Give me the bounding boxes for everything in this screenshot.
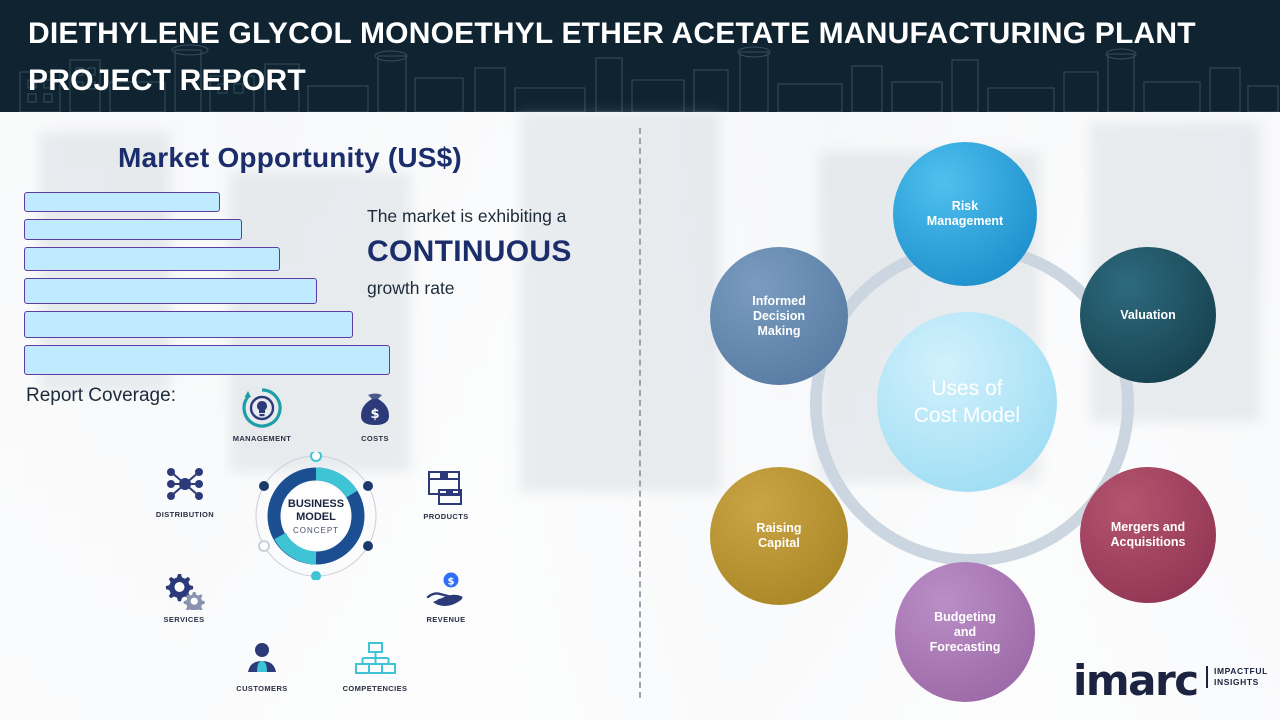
- bm-title-line1: BUSINESS: [288, 498, 344, 511]
- coverage-label-costs: COSTS: [327, 434, 423, 443]
- coverage-item-competencies: COMPETENCIES: [327, 636, 423, 693]
- business-model-diagram: BUSINESS MODEL CONCEPT: [252, 452, 380, 580]
- node-label-budgeting-2: and: [930, 625, 1001, 640]
- node-label-mergers-2: Acquisitions: [1110, 535, 1185, 550]
- logo-tagline-line2: INSIGHTS: [1214, 677, 1268, 688]
- bar-item: [24, 192, 220, 212]
- imarc-logo: imarc IMPACTFUL INSIGHTS: [1073, 660, 1263, 702]
- node-label-informed-1: Informed: [752, 294, 805, 309]
- hand-coin-revenue-icon: $: [398, 567, 494, 611]
- center-node-uses-of-cost-model[interactable]: Uses of Cost Model: [877, 312, 1057, 492]
- management-gear-bulb-icon: [214, 386, 310, 430]
- coverage-label-management: MANAGEMENT: [214, 434, 310, 443]
- money-bag-icon: $: [327, 386, 423, 430]
- left-panel: Market Opportunity (US$) The market is e…: [0, 112, 640, 720]
- page-header: Diethylene Glycol Monoethyl Ether Acetat…: [0, 0, 1280, 112]
- business-model-label: BUSINESS MODEL CONCEPT: [252, 452, 380, 580]
- node-label-informed-3: Making: [752, 324, 805, 339]
- node-risk-management[interactable]: Risk Management: [893, 142, 1037, 286]
- node-mergers-acquisitions[interactable]: Mergers and Acquisitions: [1080, 467, 1216, 603]
- coverage-item-costs: $ COSTS: [327, 386, 423, 443]
- bar-item: [24, 345, 390, 375]
- coverage-item-distribution: DISTRIBUTION: [137, 462, 233, 519]
- node-label-informed-2: Decision: [752, 309, 805, 324]
- person-customers-icon: [214, 636, 310, 680]
- coverage-item-management: MANAGEMENT: [214, 386, 310, 443]
- gears-services-icon: [136, 567, 232, 611]
- market-growth-text: The market is exhibiting a CONTINUOUS gr…: [367, 204, 637, 300]
- coverage-label-services: SERVICES: [136, 615, 232, 624]
- org-chart-competencies-icon: [327, 636, 423, 680]
- coverage-item-customers: CUSTOMERS: [214, 636, 310, 693]
- report-coverage-label: Report Coverage:: [26, 385, 176, 407]
- node-label-mergers-1: Mergers and: [1110, 520, 1185, 535]
- node-label-budgeting-3: Forecasting: [930, 640, 1001, 655]
- node-label-risk-1: Risk: [927, 199, 1003, 214]
- node-valuation[interactable]: Valuation: [1080, 247, 1216, 383]
- bar-item: [24, 311, 353, 338]
- bm-title-line2: MODEL: [296, 511, 336, 524]
- node-informed-decision-making[interactable]: Informed Decision Making: [710, 247, 848, 385]
- uses-of-cost-model-diagram: Risk Management Valuation Mergers and Ac…: [640, 112, 1280, 720]
- coverage-label-customers: CUSTOMERS: [214, 684, 310, 693]
- logo-tagline-line1: IMPACTFUL: [1214, 666, 1268, 677]
- market-opportunity-title: Market Opportunity (US$): [118, 142, 462, 174]
- market-text-line3: growth rate: [367, 276, 637, 300]
- coverage-label-competencies: COMPETENCIES: [327, 684, 423, 693]
- coverage-item-revenue: $ REVENUE: [398, 567, 494, 624]
- node-label-valuation: Valuation: [1120, 308, 1176, 323]
- node-raising-capital[interactable]: Raising Capital: [710, 467, 848, 605]
- coverage-label-revenue: REVENUE: [398, 615, 494, 624]
- node-label-budgeting-1: Budgeting: [930, 610, 1001, 625]
- node-label-raising-1: Raising: [756, 521, 801, 536]
- center-label-line1: Uses of: [914, 375, 1020, 402]
- market-text-line1: The market is exhibiting a: [367, 204, 637, 228]
- bar-item: [24, 219, 242, 240]
- node-label-raising-2: Capital: [756, 536, 801, 551]
- coverage-label-products: PRODUCTS: [398, 512, 494, 521]
- node-budgeting-forecasting[interactable]: Budgeting and Forecasting: [895, 562, 1035, 702]
- bar-item: [24, 247, 280, 271]
- node-label-risk-2: Management: [927, 214, 1003, 229]
- coverage-item-products: PRODUCTS: [398, 464, 494, 521]
- coverage-item-services: SERVICES: [136, 567, 232, 624]
- center-label-line2: Cost Model: [914, 402, 1020, 429]
- logo-tagline: IMPACTFUL INSIGHTS: [1206, 666, 1268, 688]
- svg-text:$: $: [370, 407, 379, 422]
- boxes-products-icon: [398, 464, 494, 508]
- bm-subtitle: CONCEPT: [293, 526, 339, 535]
- page-title: Diethylene Glycol Monoethyl Ether Acetat…: [28, 10, 1268, 104]
- svg-text:$: $: [448, 577, 455, 588]
- network-distribution-icon: [137, 462, 233, 506]
- coverage-label-distribution: DISTRIBUTION: [137, 510, 233, 519]
- bar-item: [24, 278, 317, 304]
- market-opportunity-bar-chart: [24, 192, 424, 382]
- market-text-line2: CONTINUOUS: [367, 228, 637, 276]
